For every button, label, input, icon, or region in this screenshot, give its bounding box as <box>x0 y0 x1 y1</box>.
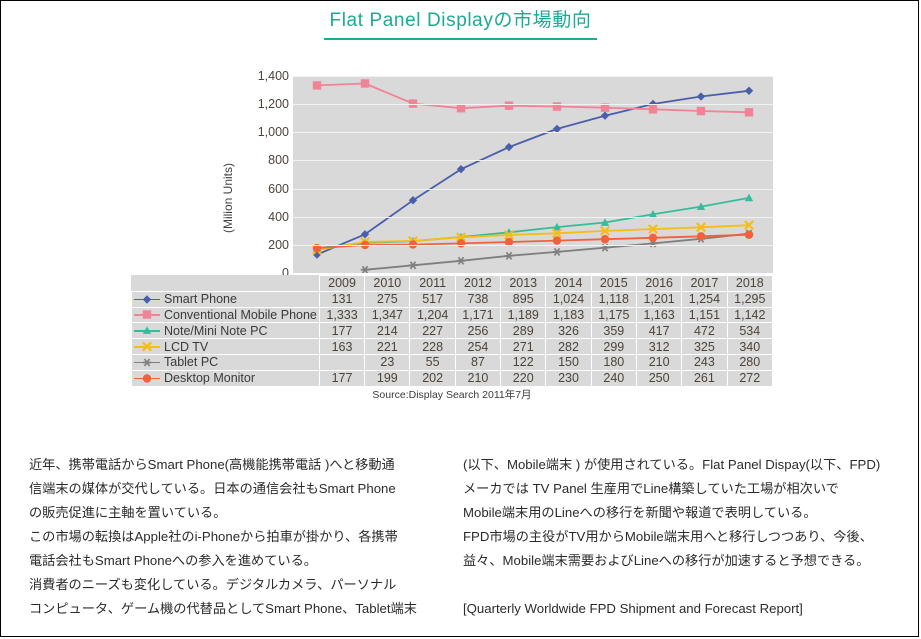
page-title: Flat Panel Displayの市場動向 <box>324 9 598 40</box>
table-row: Smart Phone1312755177388951,0241,1181,20… <box>132 291 773 307</box>
chart-line-conventional-mobile-phone <box>317 84 749 113</box>
chart-marker-diamond <box>143 295 151 303</box>
table-cell: 256 <box>455 323 500 339</box>
legend-marker-cross-icon <box>134 341 160 352</box>
chart-marker-asterisk <box>143 359 151 366</box>
legend-label: LCD TV <box>164 340 208 354</box>
reference-citation: [Quarterly Worldwide FPD Shipment and Fo… <box>463 597 903 621</box>
table-year-header: 2013 <box>501 276 546 292</box>
table-cell: 1,151 <box>682 307 727 323</box>
legend-label: Tablet PC <box>164 355 218 369</box>
chart-marker-circle <box>697 232 705 240</box>
chart-marker-circle <box>649 234 657 242</box>
table-cell: 210 <box>455 370 500 386</box>
body-right-line: メーカでは TV Panel 生産用でLine構築していた工場が相次いで <box>463 477 903 501</box>
chart-marker-circle <box>601 235 609 243</box>
table-cell: 221 <box>365 339 410 355</box>
chart-marker-square <box>457 104 465 112</box>
table-cell: 1,254 <box>682 291 727 307</box>
table-cell: 180 <box>591 354 636 370</box>
chart-marker-asterisk <box>409 262 417 269</box>
body-text-right-column: (以下、Mobile端末 ) が使用されている。Flat Panel Dispa… <box>463 453 903 621</box>
legend-marker-asterisk-icon <box>134 357 160 368</box>
legend-marker-square-icon <box>134 309 160 320</box>
table-cell: 230 <box>546 370 591 386</box>
y-axis-tick-labels: 02004006008001,0001,2001,400 <box>241 63 289 275</box>
table-cell: 326 <box>546 323 591 339</box>
table-cell: 359 <box>591 323 636 339</box>
table-year-header: 2010 <box>365 276 410 292</box>
body-right-line: (以下、Mobile端末 ) が使用されている。Flat Panel Dispa… <box>463 453 903 477</box>
body-left-line: の販売促進に主軸を置いている。 <box>29 501 447 525</box>
legend-label: Note/Mini Note PC <box>164 324 268 338</box>
legend-marker-circle-icon <box>134 373 160 384</box>
table-cell: 1,333 <box>319 307 364 323</box>
table-cell: 1,171 <box>455 307 500 323</box>
body-left-line: 近年、携帯電話からSmart Phone(高機能携帯電話 )へと移動通 <box>29 453 447 477</box>
y-axis-tick: 600 <box>268 182 289 196</box>
table-year-header: 2017 <box>682 276 727 292</box>
chart-marker-square <box>313 81 321 89</box>
table-cell: 199 <box>365 370 410 386</box>
table-cell: 228 <box>410 339 455 355</box>
table-cell: 177 <box>319 323 364 339</box>
chart-gridline <box>293 76 773 77</box>
body-text-left-column: 近年、携帯電話からSmart Phone(高機能携帯電話 )へと移動通信端末の媒… <box>29 453 447 621</box>
y-axis-tick: 1,200 <box>258 97 289 111</box>
table-cell <box>319 354 364 370</box>
table-cell: 282 <box>546 339 591 355</box>
table-cell: 472 <box>682 323 727 339</box>
table-cell: 1,118 <box>591 291 636 307</box>
table-cell: 312 <box>636 339 681 355</box>
table-corner-cell <box>132 276 320 292</box>
legend-item-lcd-tv[interactable]: LCD TV <box>132 339 320 355</box>
table-cell: 1,204 <box>410 307 455 323</box>
chart-marker-asterisk <box>505 252 513 259</box>
table-row: Tablet PC 235587122150180210243280 <box>132 354 773 370</box>
chart-marker-square <box>649 105 657 113</box>
table-cell: 163 <box>319 339 364 355</box>
body-right-line: Mobile端末用のLineへの移行を新聞や報道で表明している。 <box>463 501 903 525</box>
chart-marker-asterisk <box>457 257 465 264</box>
table-cell: 210 <box>636 354 681 370</box>
legend-item-conventional-mobile-phone[interactable]: Conventional Mobile Phone <box>132 307 320 323</box>
table-year-header: 2014 <box>546 276 591 292</box>
paragraph-spacer <box>463 573 903 597</box>
table-cell: 131 <box>319 291 364 307</box>
table-cell: 23 <box>365 354 410 370</box>
body-left-line: コンピュータ、ゲーム機の代替品としてSmart Phone、Tablet端末 <box>29 597 447 621</box>
table-cell: 272 <box>727 370 772 386</box>
chart-marker-diamond <box>745 87 753 95</box>
chart-marker-triangle <box>143 327 151 335</box>
body-right-line: FPD市場の主役がTV用からMobile端末用へと移行しつつあり、今後、 <box>463 525 903 549</box>
table-cell: 227 <box>410 323 455 339</box>
table-year-header: 2015 <box>591 276 636 292</box>
table-cell: 150 <box>546 354 591 370</box>
legend-item-tablet-pc[interactable]: Tablet PC <box>132 354 320 370</box>
table-cell: 87 <box>455 354 500 370</box>
table-cell: 254 <box>455 339 500 355</box>
chart-marker-square <box>697 107 705 115</box>
table-cell: 1,175 <box>591 307 636 323</box>
table-year-header: 2016 <box>636 276 681 292</box>
table-cell: 1,347 <box>365 307 410 323</box>
table-cell: 243 <box>682 354 727 370</box>
y-axis-tick: 400 <box>268 210 289 224</box>
table-row: Note/Mini Note PC17721422725628932635941… <box>132 323 773 339</box>
chart-marker-cross <box>143 342 151 350</box>
chart-marker-triangle <box>745 194 753 202</box>
chart-marker-square <box>745 108 753 116</box>
table-row: Desktop Monitor1771992022102202302402502… <box>132 370 773 386</box>
table-cell: 1,183 <box>546 307 591 323</box>
table-cell: 177 <box>319 370 364 386</box>
chart-marker-square <box>143 311 151 319</box>
chart-plot-area <box>293 76 773 273</box>
chart-series-svg <box>293 76 773 273</box>
table-cell: 220 <box>501 370 546 386</box>
table-cell: 122 <box>501 354 546 370</box>
table-year-header: 2018 <box>727 276 772 292</box>
table-year-header: 2009 <box>319 276 364 292</box>
body-left-line: この市場の転換はApple社のi-Phoneから拍車が掛かり、各携帯 <box>29 525 447 549</box>
y-axis-tick: 1,400 <box>258 69 289 83</box>
chart-marker-diamond <box>697 92 705 100</box>
y-axis-title: (Milion Units) <box>221 163 239 233</box>
table-cell: 1,142 <box>727 307 772 323</box>
legend-marker-diamond-icon <box>134 294 160 305</box>
slide-page: Flat Panel Displayの市場動向 (Milion Units) 0… <box>0 0 919 637</box>
chart-block: (Milion Units) 02004006008001,0001,2001,… <box>131 63 776 393</box>
table-row: Conventional Mobile Phone1,3331,3471,204… <box>132 307 773 323</box>
legend-item-smart-phone[interactable]: Smart Phone <box>132 291 320 307</box>
chart-marker-circle <box>745 231 753 239</box>
table-cell: 517 <box>410 291 455 307</box>
table-cell: 895 <box>501 291 546 307</box>
chart-marker-square <box>505 101 513 109</box>
table-cell: 261 <box>682 370 727 386</box>
legend-label: Desktop Monitor <box>164 371 255 385</box>
table-cell: 417 <box>636 323 681 339</box>
title-container: Flat Panel Displayの市場動向 <box>1 9 920 40</box>
chart-marker-diamond <box>505 143 513 151</box>
table-cell: 275 <box>365 291 410 307</box>
body-right-line: 益々、Mobile端末需要およびLineへの移行が加速すると予想できる。 <box>463 549 903 573</box>
legend-item-desktop-monitor[interactable]: Desktop Monitor <box>132 370 320 386</box>
table-row: LCD TV163221228254271282299312325340 <box>132 339 773 355</box>
table-header-row: 2009201020112012201320142015201620172018 <box>132 276 773 292</box>
legend-label: Smart Phone <box>164 292 237 306</box>
chart-marker-circle <box>143 374 151 382</box>
chart-gridline <box>293 245 773 246</box>
body-left-line: 信端末の媒体が交代している。日本の通信会社もSmart Phone <box>29 477 447 501</box>
chart-gridline <box>293 217 773 218</box>
table-year-header: 2012 <box>455 276 500 292</box>
table-cell: 738 <box>455 291 500 307</box>
table-cell: 214 <box>365 323 410 339</box>
table-cell: 280 <box>727 354 772 370</box>
table-cell: 1,201 <box>636 291 681 307</box>
legend-label: Conventional Mobile Phone <box>164 308 317 322</box>
table-cell: 1,024 <box>546 291 591 307</box>
chart-marker-asterisk <box>553 248 561 255</box>
y-axis-tick: 1,000 <box>258 125 289 139</box>
chart-marker-circle <box>553 236 561 244</box>
chart-marker-circle <box>457 239 465 247</box>
chart-gridline <box>293 132 773 133</box>
legend-marker-triangle-icon <box>134 325 160 336</box>
table-cell: 325 <box>682 339 727 355</box>
y-axis-tick: 800 <box>268 153 289 167</box>
table-cell: 55 <box>410 354 455 370</box>
chart-source-note: Source:Display Search 2011年7月 <box>131 387 773 402</box>
table-cell: 250 <box>636 370 681 386</box>
table-cell: 299 <box>591 339 636 355</box>
body-left-line: 電話会社もSmart Phoneへの参入を進めている。 <box>29 549 447 573</box>
chart-marker-diamond <box>601 111 609 119</box>
table-year-header: 2011 <box>410 276 455 292</box>
table-cell: 340 <box>727 339 772 355</box>
table-cell: 240 <box>591 370 636 386</box>
table-cell: 271 <box>501 339 546 355</box>
table-cell: 1,295 <box>727 291 772 307</box>
table-cell: 289 <box>501 323 546 339</box>
table-cell: 202 <box>410 370 455 386</box>
chart-data-table: 2009201020112012201320142015201620172018… <box>131 275 773 387</box>
table-cell: 1,163 <box>636 307 681 323</box>
table-cell: 534 <box>727 323 772 339</box>
chart-gridline <box>293 160 773 161</box>
chart-gridline <box>293 189 773 190</box>
chart-marker-square <box>361 79 369 87</box>
legend-item-note-mini-note-pc[interactable]: Note/Mini Note PC <box>132 323 320 339</box>
table-cell: 1,189 <box>501 307 546 323</box>
chart-marker-asterisk <box>361 266 369 273</box>
y-axis-tick: 200 <box>268 238 289 252</box>
body-left-line: 消費者のニーズも変化している。デジタルカメラ、パーソナル <box>29 573 447 597</box>
chart-gridline <box>293 104 773 105</box>
